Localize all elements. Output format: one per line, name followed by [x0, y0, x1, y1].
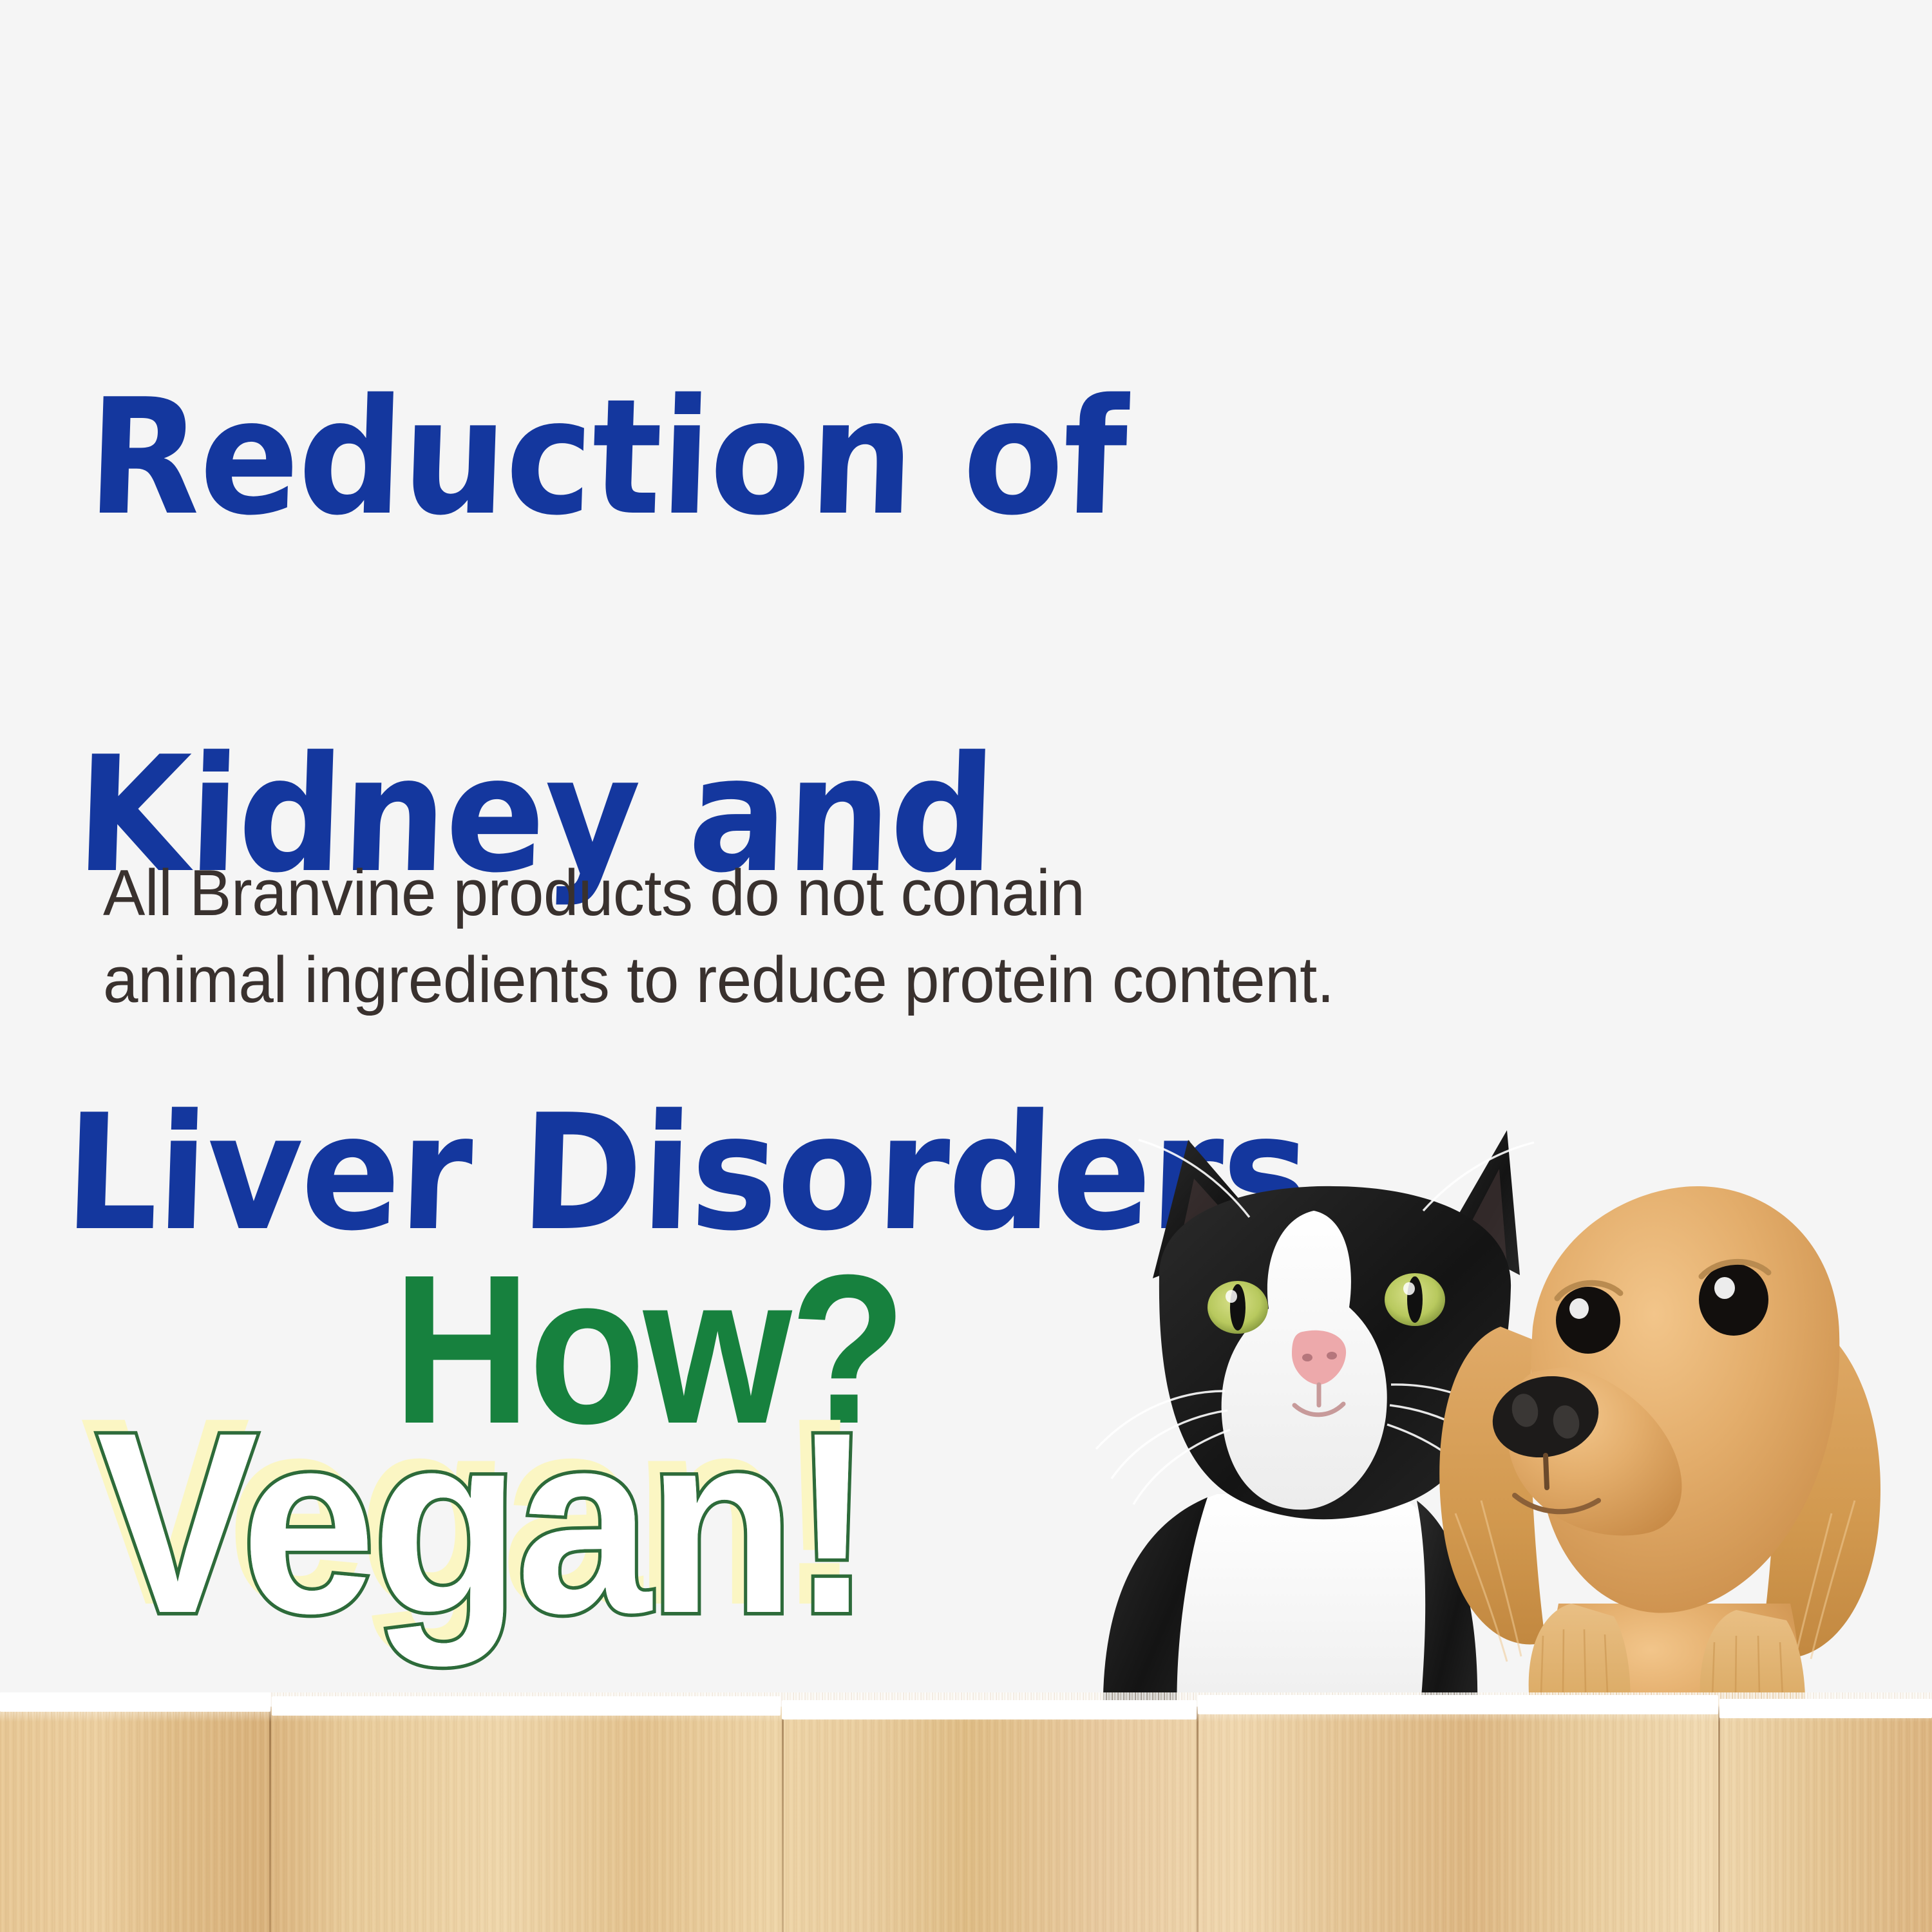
plank-divider: [782, 1707, 784, 1932]
plank-divider: [1197, 1707, 1198, 1932]
dog-right-eye-glint: [1714, 1277, 1735, 1299]
body-copy: All Branvine products do not conain anim…: [103, 850, 1702, 1025]
dog-philtrum: [1546, 1455, 1547, 1488]
cat-right-nostril: [1327, 1352, 1337, 1359]
pets-illustration: [1056, 1114, 1932, 1758]
body-copy-line-1: All Branvine products do not conain: [103, 850, 1702, 937]
fence-planks: [0, 1707, 1932, 1932]
cat-left-eye-glint: [1226, 1290, 1237, 1303]
dog-left-eye: [1556, 1287, 1620, 1354]
headline-line-1: Reduction of: [85, 369, 1513, 548]
vegan-fill-layer: Vegan!: [97, 1394, 869, 1652]
fence-top-segment: [272, 1696, 781, 1716]
fence-top-segment: [782, 1700, 1197, 1719]
fence-top-segment: [1198, 1695, 1718, 1714]
plank-divider: [1718, 1707, 1720, 1932]
dog-left-eye-glint: [1569, 1298, 1589, 1319]
fence-top-segment: [0, 1692, 270, 1712]
wooden-fence: [0, 1692, 1932, 1932]
fence-top-segment: [1719, 1699, 1932, 1718]
dog-right-eye: [1699, 1264, 1768, 1336]
cat-left-nostril: [1302, 1354, 1312, 1361]
pets-photo: [1056, 1114, 1932, 1758]
cat-right-eye-glint: [1403, 1282, 1415, 1295]
plank-divider: [269, 1707, 271, 1932]
poster-canvas: Reduction of Kidney and Liver Disorders …: [0, 0, 1932, 1932]
body-copy-line-2: animal ingredients to reduce protein con…: [103, 937, 1702, 1024]
